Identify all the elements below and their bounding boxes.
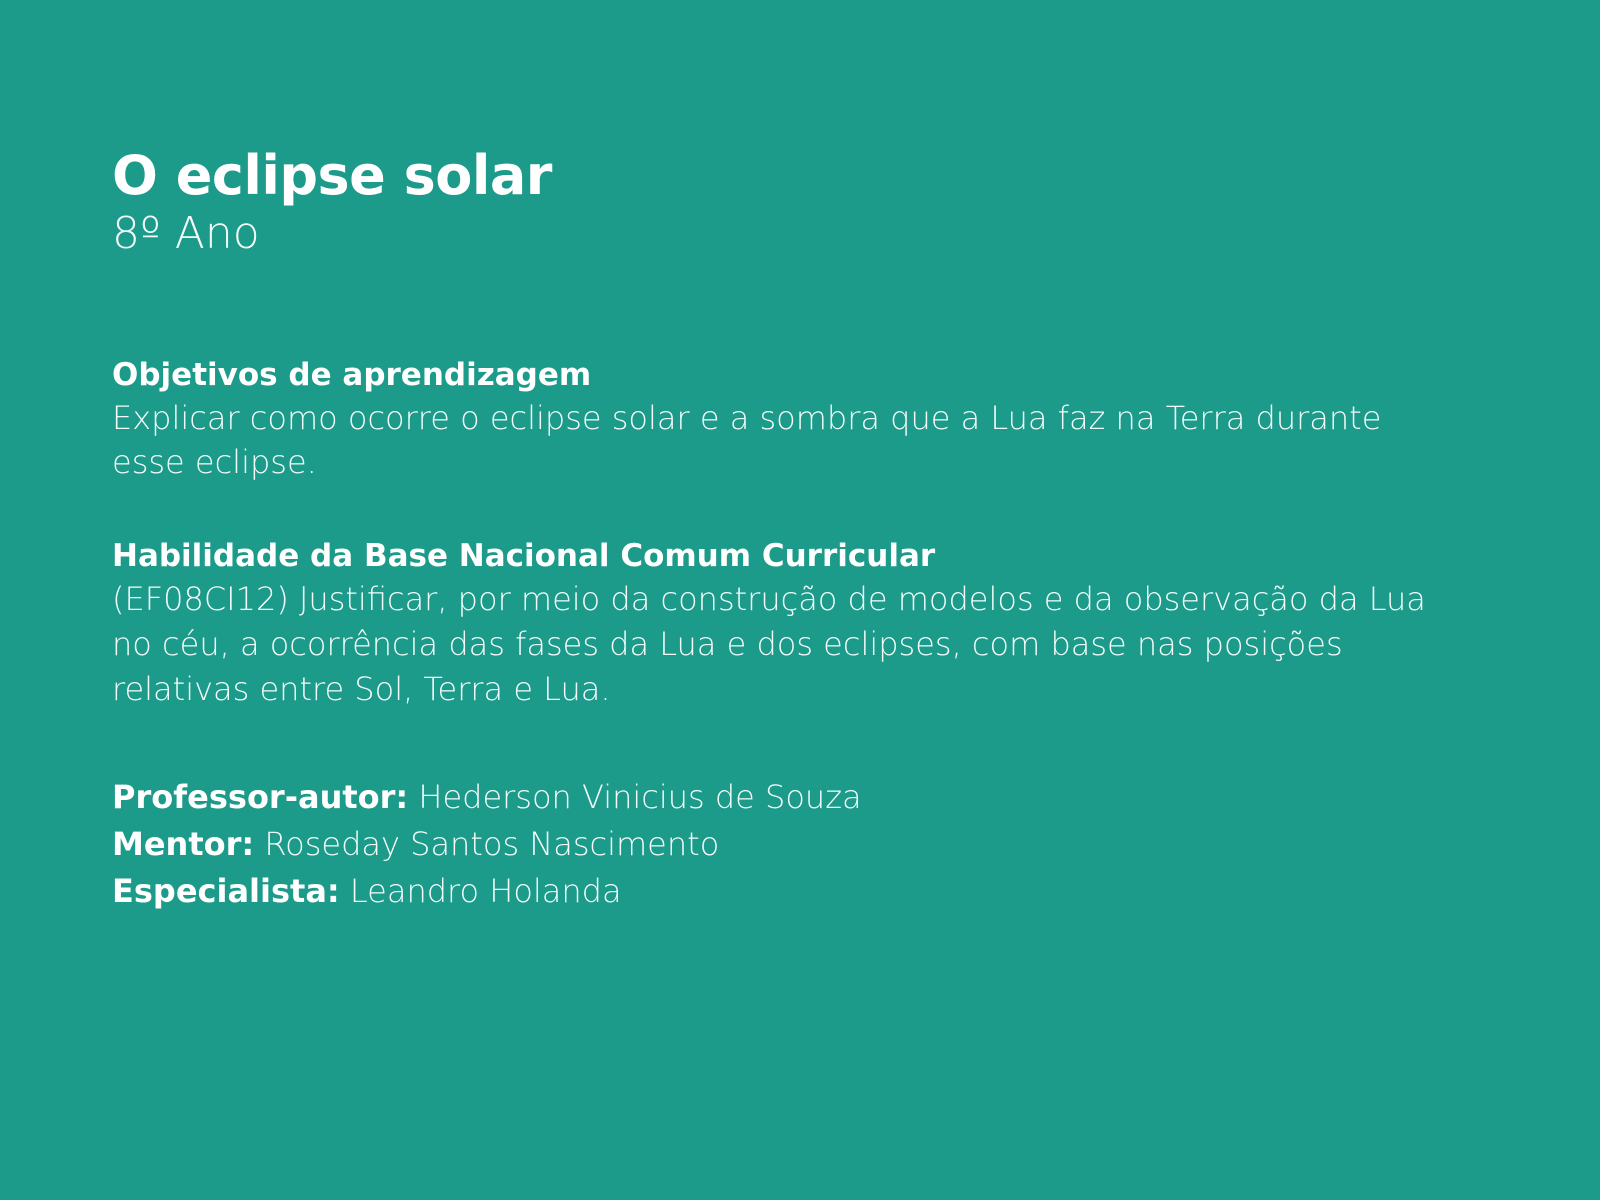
credit-role-mentor: Mentor: [112, 825, 254, 863]
title-block: O eclipse solar 8º Ano [112, 148, 1430, 260]
credit-name-mentor: Roseday Santos Nascimento [264, 825, 719, 863]
credit-name-professor-autor: Hederson Vinicius de Souza [418, 778, 861, 816]
credit-line-professor-autor: Professor-autor: Hederson Vinicius de So… [112, 774, 1430, 821]
credit-line-mentor: Mentor: Roseday Santos Nascimento [112, 821, 1430, 868]
section-habilidade-bncc: Habilidade da Base Nacional Comum Curric… [112, 539, 1430, 711]
slide-root: O eclipse solar 8º Ano Objetivos de apre… [0, 0, 1600, 1200]
page-title: O eclipse solar [112, 148, 1430, 203]
credits-block: Professor-autor: Hederson Vinicius de So… [112, 774, 1430, 916]
credit-role-especialista: Especialista: [112, 872, 340, 910]
section-objetivos: Objetivos de aprendizagem Explicar como … [112, 358, 1430, 486]
page-subtitle: 8º Ano [112, 209, 1430, 260]
credit-role-professor-autor: Professor-autor: [112, 778, 408, 816]
section-heading-habilidade-bncc: Habilidade da Base Nacional Comum Curric… [112, 539, 1430, 575]
credit-line-especialista: Especialista: Leandro Holanda [112, 868, 1430, 915]
section-body-objetivos: Explicar como ocorre o eclipse solar e a… [112, 396, 1430, 486]
section-body-habilidade-bncc: (EF08CI12) Justificar, por meio da const… [112, 577, 1430, 711]
section-heading-objetivos: Objetivos de aprendizagem [112, 358, 1430, 394]
credit-name-especialista: Leandro Holanda [350, 872, 622, 910]
